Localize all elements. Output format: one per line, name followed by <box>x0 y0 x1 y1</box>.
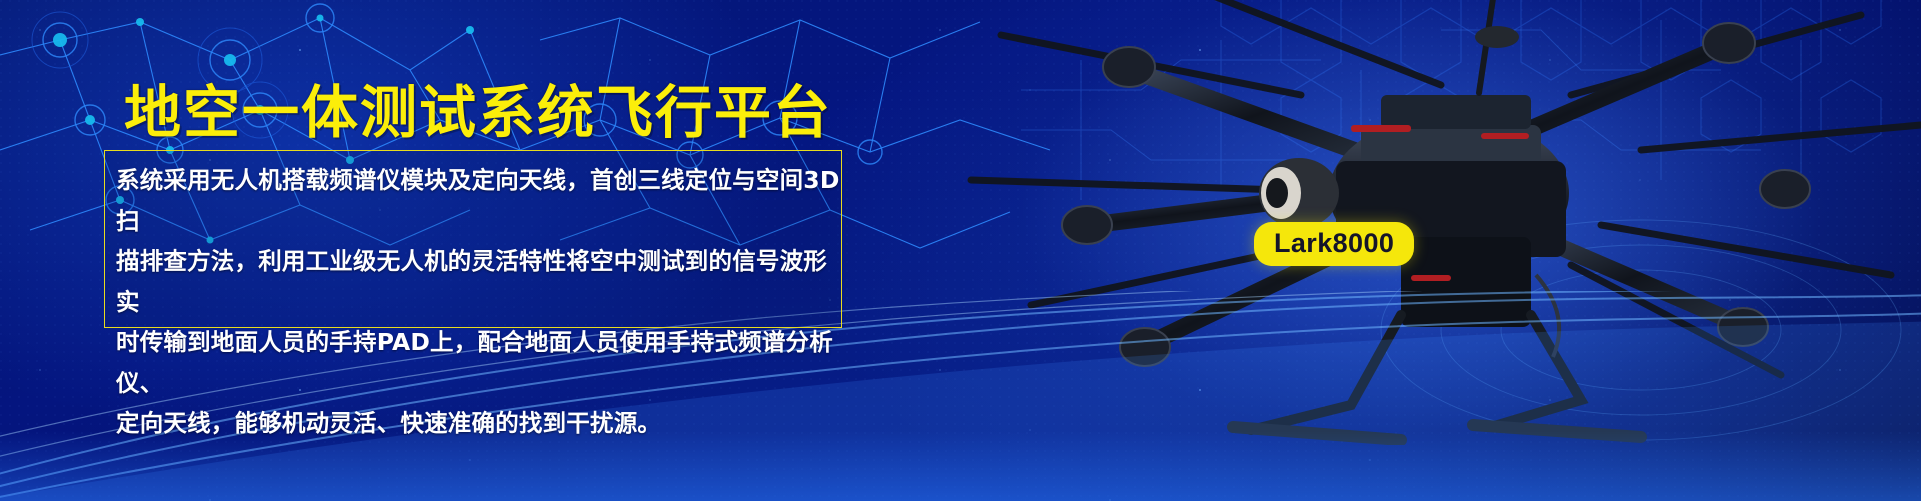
page-title: 地空一体测试系统飞行平台 <box>124 82 832 144</box>
product-banner: 地空一体测试系统飞行平台 系统采用无人机搭载频谱仪模块及定向天线，首创三线定位与… <box>0 0 1921 501</box>
product-model-badge: Lark8000 <box>1254 222 1414 266</box>
description-text: 系统采用无人机搭载频谱仪模块及定向天线，首创三线定位与空间3D扫 描排查方法，利… <box>116 160 842 444</box>
